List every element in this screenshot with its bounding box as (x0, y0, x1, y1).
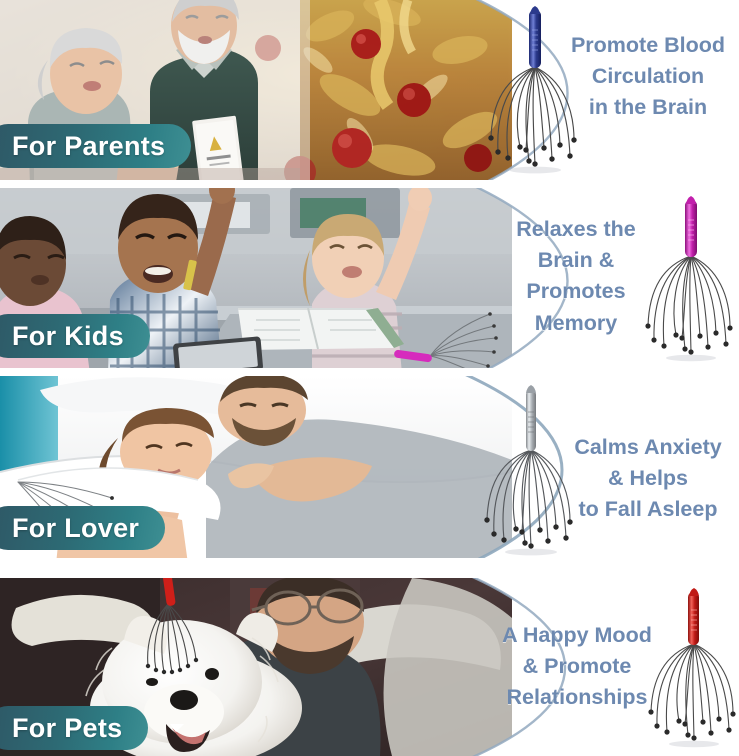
benefit-text-pets: A Happy Mood & Promote Relationships (486, 620, 668, 714)
panel-for-lover: For Lover (0, 376, 739, 564)
panel-separator-1 (0, 180, 739, 187)
panel-for-parents: For Parents (0, 0, 739, 186)
badge-for-lover: For Lover (0, 506, 165, 550)
badge-for-kids: For Kids (0, 314, 150, 358)
benefit-text-lover: Calms Anxiety & Helps to Fall Asleep (560, 432, 736, 526)
promo-infographic: For Parents (0, 0, 739, 756)
benefit-text-kids: Relaxes the Brain & Promotes Memory (500, 214, 652, 339)
badge-label: For Pets (12, 713, 122, 744)
benefit-text-parents: Promote Blood Circulation in the Brain (560, 30, 736, 124)
badge-label: For Parents (12, 131, 165, 162)
panel-for-kids: For Kids (0, 188, 739, 374)
head-massager-magenta (645, 194, 737, 366)
panel-for-pets: For Pets (0, 578, 739, 756)
panel-separator-3 (0, 558, 739, 565)
badge-label: For Kids (12, 321, 124, 352)
badge-for-parents: For Parents (0, 124, 191, 168)
mini-massager-magenta (382, 300, 500, 374)
badge-label: For Lover (12, 513, 139, 544)
massager-illustration (645, 194, 737, 366)
badge-for-pets: For Pets (0, 706, 148, 750)
panel-separator-2 (0, 368, 739, 375)
